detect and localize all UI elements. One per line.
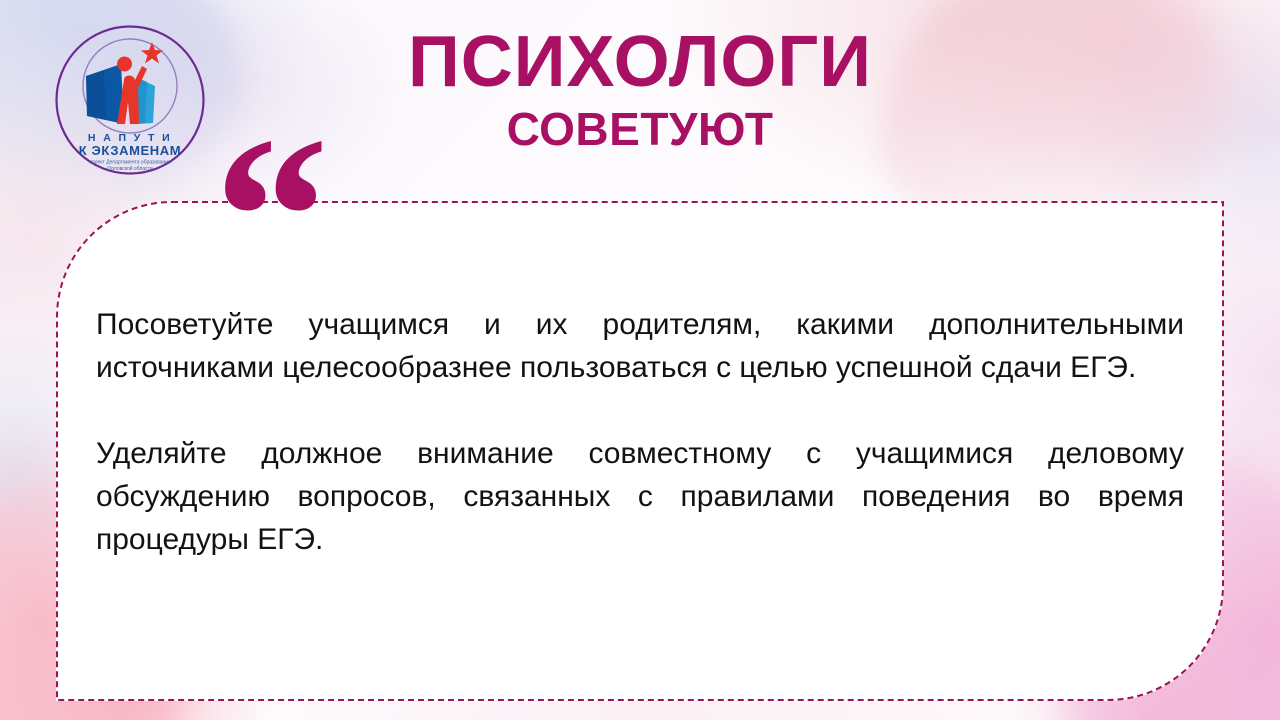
quote-body: Посоветуйте учащимся и их родителям, как… bbox=[96, 303, 1184, 561]
quote-paragraph-2: Уделяйте должное внимание совместному с … bbox=[96, 432, 1184, 561]
quote-paragraph-1: Посоветуйте учащимся и их родителям, как… bbox=[96, 303, 1184, 389]
logo-subtitle-line2: Орловской области bbox=[107, 165, 152, 172]
slide-canvas: Н А П У Т И К ЭКЗАМЕНАМ проект Департаме… bbox=[0, 0, 1280, 720]
title-main: ПСИХОЛОГИ bbox=[0, 26, 1280, 98]
logo-subtitle-line1: проект Департамента образования bbox=[89, 160, 171, 166]
quote-mark-icon: “ bbox=[214, 138, 334, 258]
page-title: ПСИХОЛОГИ СОВЕТУЮТ bbox=[0, 26, 1280, 152]
quote-mark-glyph: “ bbox=[214, 102, 329, 332]
title-subtitle: СОВЕТУЮТ bbox=[0, 106, 1280, 152]
